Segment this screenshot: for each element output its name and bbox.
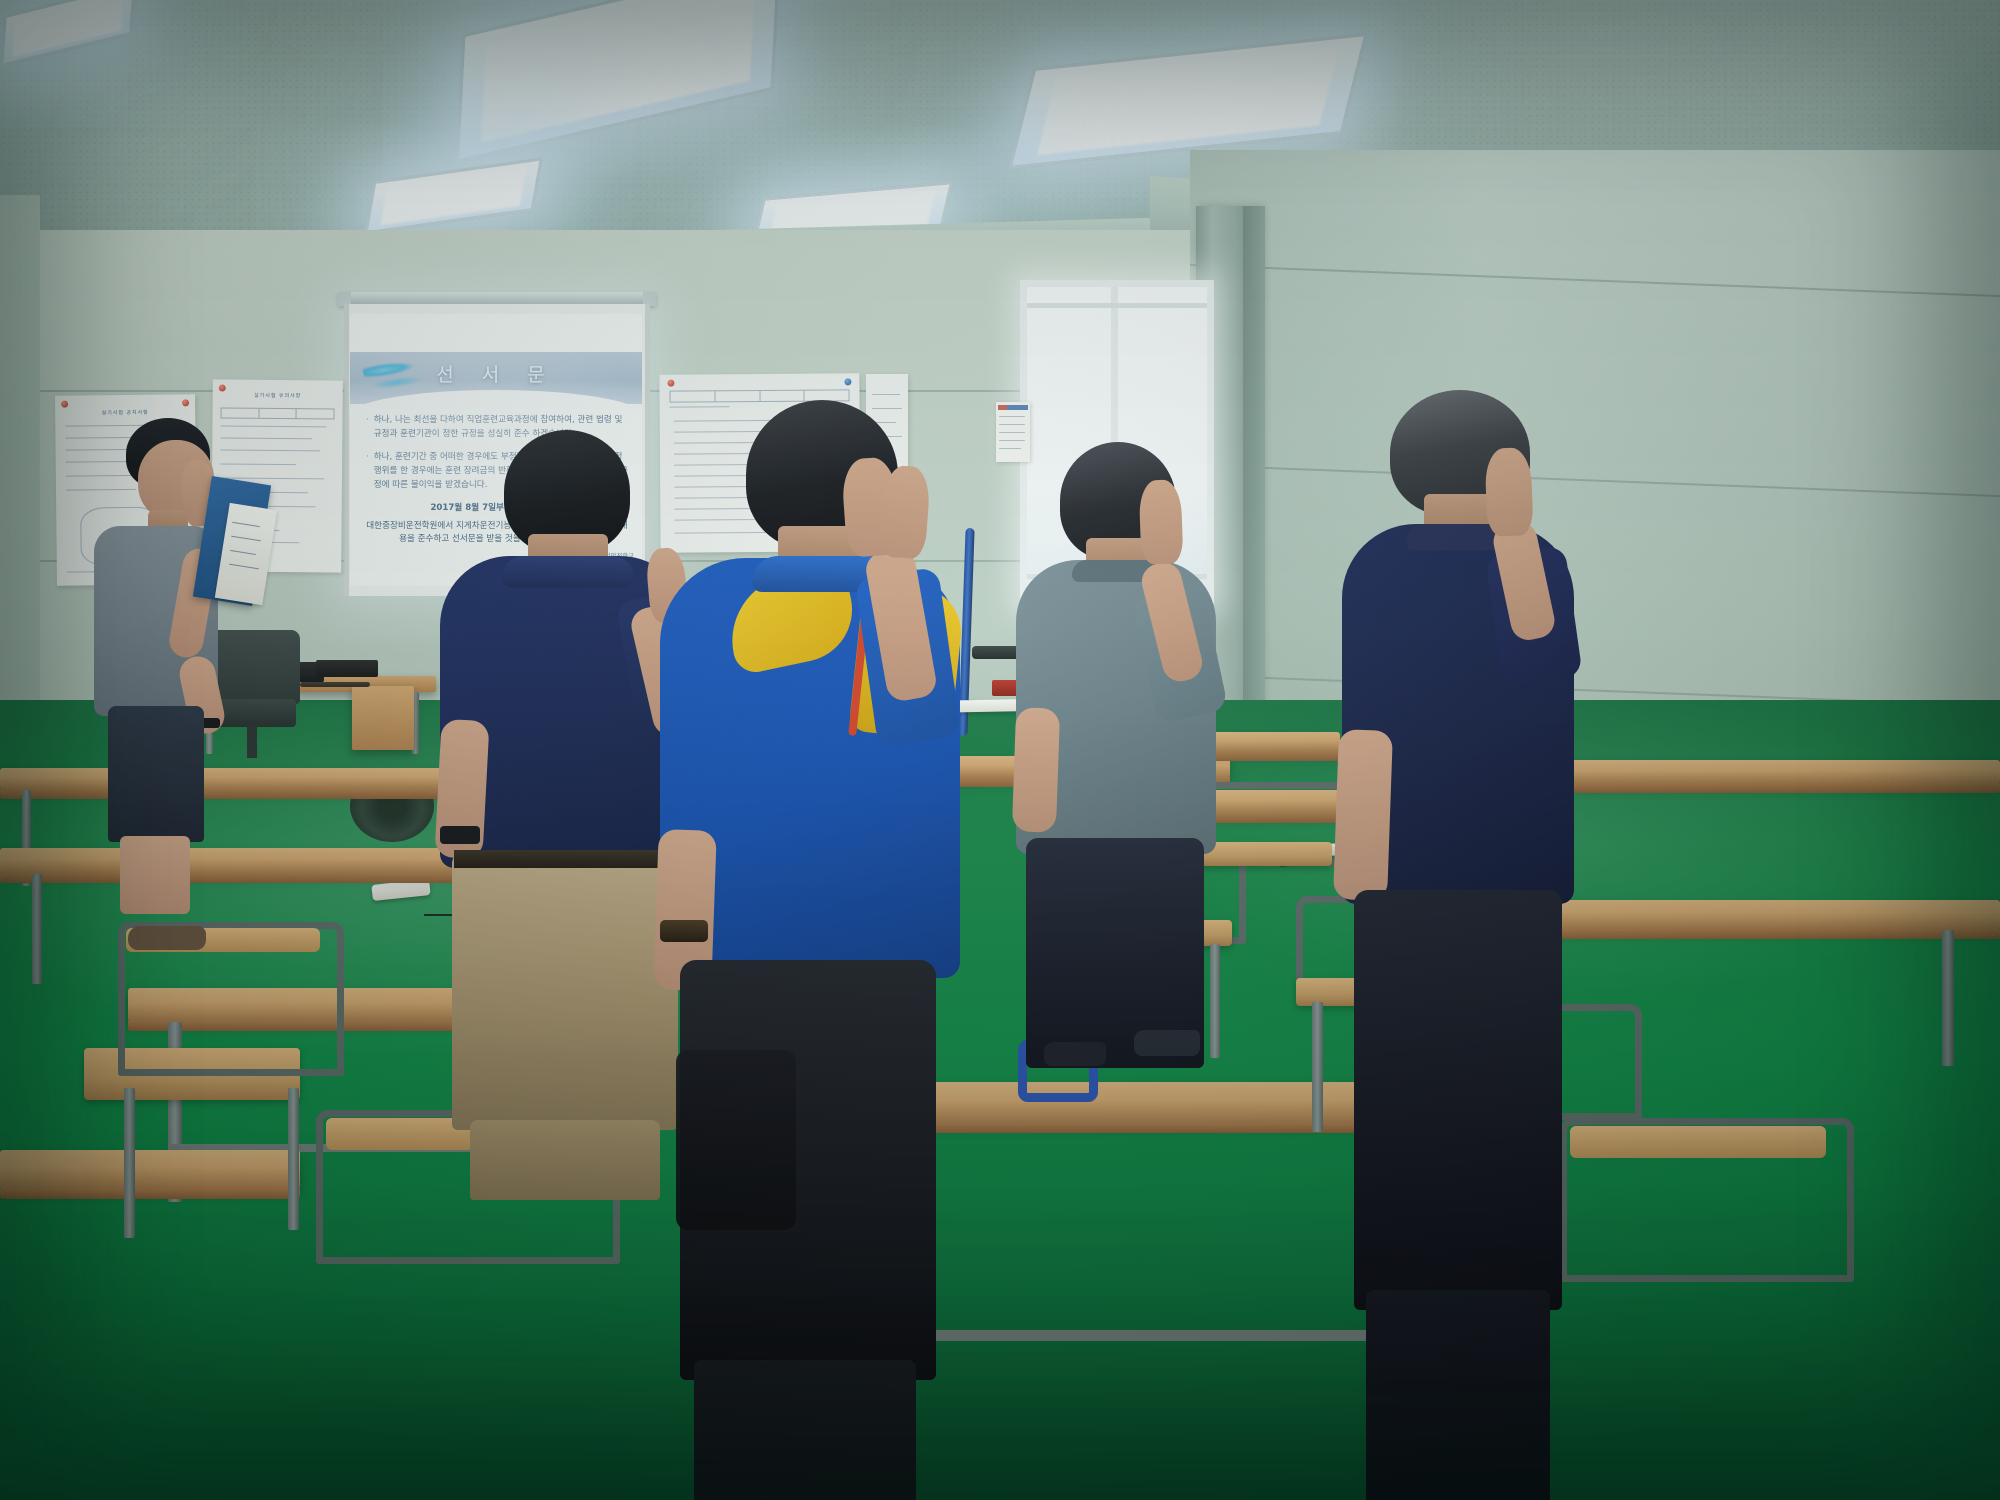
chair-backrest-pad [1570,1126,1826,1158]
lower-legs [120,836,190,914]
chair-leg [288,1088,299,1230]
person-right-navy-tee [1336,390,1576,1500]
shoe-right [1134,1030,1200,1056]
left-arm [1012,707,1060,832]
shoe-left [1044,1042,1106,1066]
desk-bottom-left [0,1150,300,1190]
collar [502,556,634,588]
right-hand [1484,447,1533,537]
wrist-watch [660,920,708,942]
desk-leg [1942,930,1954,1066]
cable-bundle [300,682,370,687]
person-gray-tee [1012,442,1222,1082]
belt [454,850,676,868]
screen-edge-left [344,304,349,596]
desk-leg [32,874,42,984]
window-rail-top [1027,303,1207,308]
bullet-marker: · [366,451,369,493]
chair-bottom-right [1560,1118,1840,1184]
left-arm [1333,729,1393,901]
chair-leg [1312,1002,1323,1132]
legs [108,706,204,842]
light-tube [1037,47,1339,155]
chair-leg [124,1088,135,1238]
classroom-photo: 선 서 문 · 하나, 나는 최선을 다하여 직업훈련교육과정에 참여하여, 관… [0,0,2000,1500]
side-cabinet [352,686,414,750]
bullet-marker: · [366,414,369,442]
poster-left-title: 실기시험 공지사항 [55,408,195,416]
trousers [1354,890,1562,1310]
wrist-watch [440,826,480,844]
sandal [128,926,206,950]
lower-trousers [1366,1290,1550,1500]
slide-title: 선 서 문 [350,360,642,387]
lower-track-pants [694,1360,916,1500]
person-sport-jersey [650,400,970,1500]
trousers [452,850,678,1130]
raised-hand [1139,479,1184,564]
bag-under-desk [676,1050,796,1230]
lower-trousers [470,1120,660,1200]
poster-second-title: 실기시험 유의사항 [213,391,343,399]
projector-unit [316,660,378,677]
